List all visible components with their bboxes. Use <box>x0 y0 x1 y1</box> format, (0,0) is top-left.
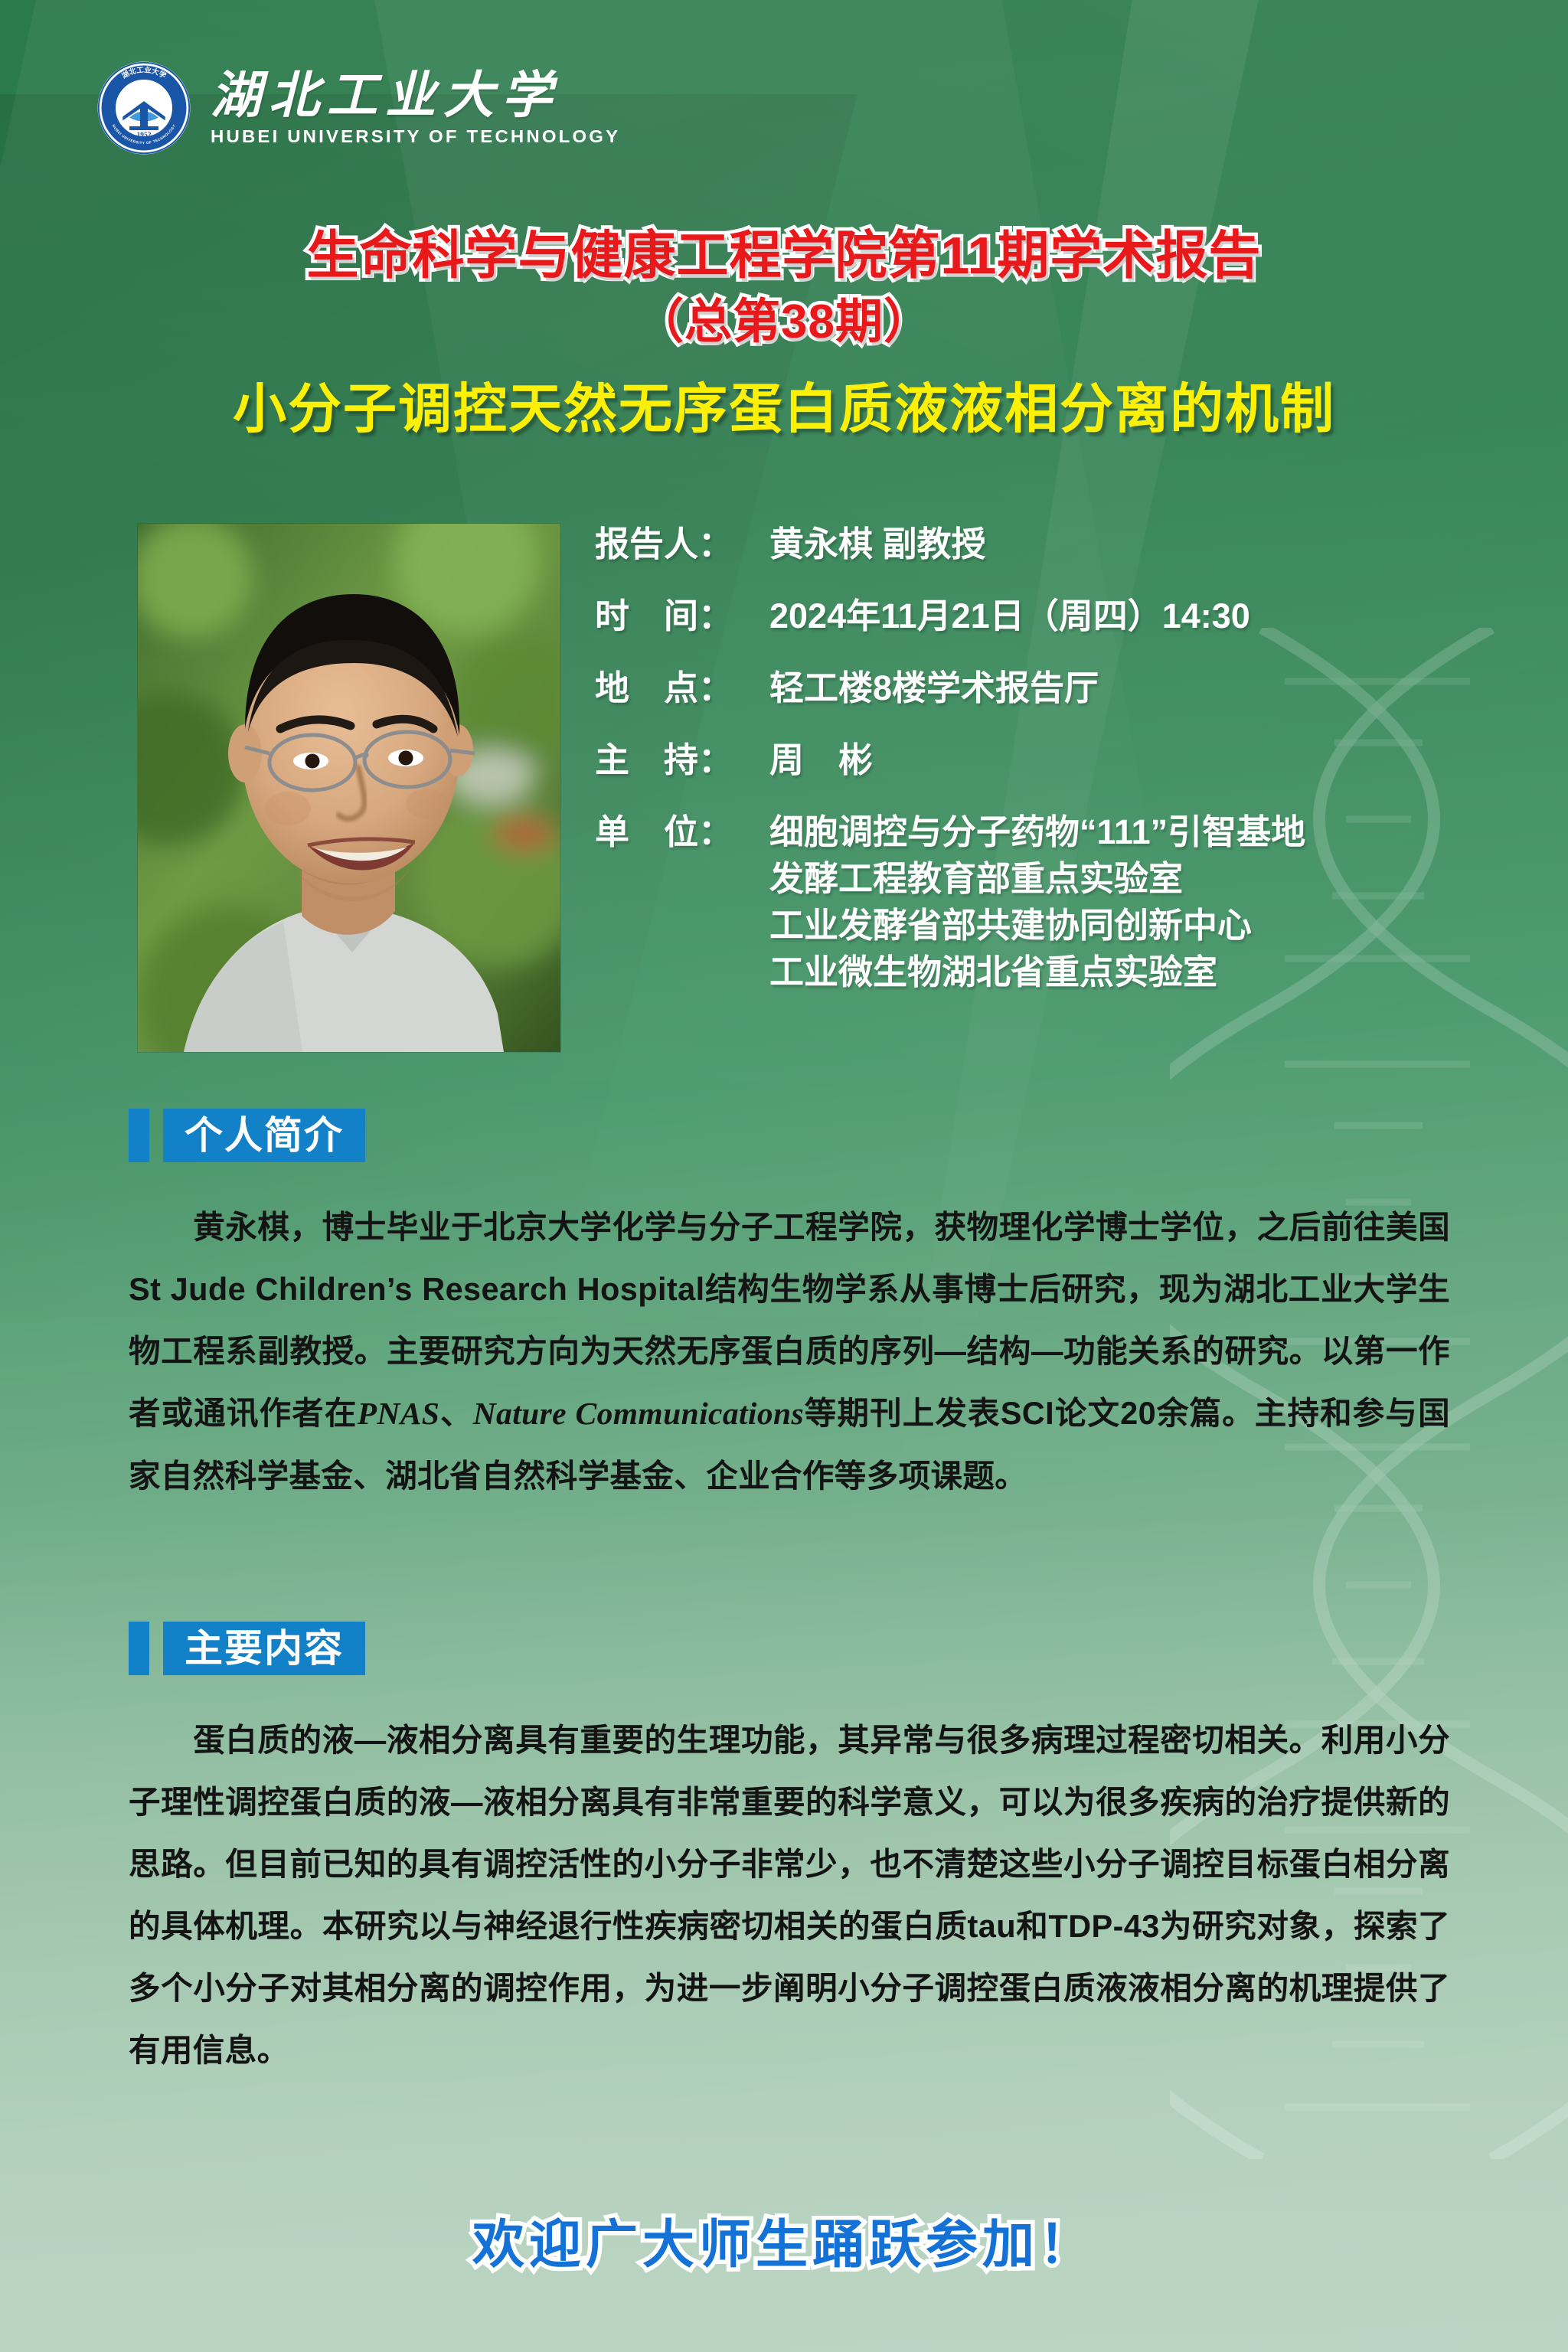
university-branding: 1952 湖北工业大学 HUBEI UNIVERSITY OF TECHNOLO… <box>96 60 612 156</box>
content-text: 蛋白质的液—液相分离具有重要的生理功能，其异常与很多病理过程密切相关。利用小分子… <box>129 1722 1450 2068</box>
wordmark: 湖北工业大学 HUBEI UNIVERSITY OF TECHNOLOGY <box>211 69 612 147</box>
series-title-line1: 生命科学与健康工程学院第11期学术报告 <box>0 222 1568 291</box>
university-name-cn: 湖北工业大学 <box>211 69 612 123</box>
section-header-bio: 个人简介 <box>129 1109 365 1162</box>
affiliation-item: 细胞调控与分子药物“111”引智基地 <box>769 815 1305 849</box>
talk-subject-title: 小分子调控天然无序蛋白质液液相分离的机制 <box>0 366 1568 443</box>
bio-paragraph: 黄永棋，博士毕业于北京大学化学与分子工程学院，获物理化学博士学位，之后前往美国S… <box>129 1196 1450 1507</box>
seminar-poster: 1952 湖北工业大学 HUBEI UNIVERSITY OF TECHNOLO… <box>0 0 1568 2352</box>
detail-place-label: 地 点： <box>595 671 769 705</box>
detail-speaker-value: 黄永棋 副教授 <box>769 527 1507 561</box>
bio-text-separator: 、 <box>439 1395 472 1431</box>
detail-speaker-label: 报告人： <box>595 527 769 561</box>
talk-details: 报告人： 黄永棋 副教授 时 间： 2024年11月21日（周四）14:30 地… <box>595 524 1507 989</box>
detail-speaker: 报告人： 黄永棋 副教授 <box>595 527 1507 561</box>
detail-place: 地 点： 轻工楼8楼学术报告厅 <box>595 671 1507 705</box>
university-name-en: HUBEI UNIVERSITY OF TECHNOLOGY <box>211 126 620 147</box>
welcome-banner: 欢迎广大师生踊跃参加！ <box>0 2202 1568 2278</box>
section-content-label: 主要内容 <box>163 1622 365 1675</box>
journal-name-nature-communications: Nature Communications <box>473 1396 804 1431</box>
detail-time-value: 2024年11月21日（周四）14:30 <box>769 599 1507 633</box>
journal-name-pnas: PNAS <box>358 1396 440 1431</box>
section-header-content: 主要内容 <box>129 1622 365 1675</box>
detail-affiliation-values: 细胞调控与分子药物“111”引智基地 发酵工程教育部重点实验室 工业发酵省部共建… <box>769 815 1305 989</box>
speaker-info-row: 报告人： 黄永棋 副教授 时 间： 2024年11月21日（周四）14:30 地… <box>138 524 1507 1052</box>
svg-text:1952: 1952 <box>137 132 152 139</box>
section-accent-bar <box>129 1109 149 1162</box>
detail-host: 主 持： 周 彬 <box>595 743 1507 777</box>
detail-time: 时 间： 2024年11月21日（周四）14:30 <box>595 599 1507 633</box>
affiliation-item: 工业微生物湖北省重点实验室 <box>769 955 1305 989</box>
detail-affiliation-label: 单 位： <box>595 815 769 849</box>
university-seal-icon: 1952 湖北工业大学 HUBEI UNIVERSITY OF TECHNOLO… <box>96 60 192 156</box>
affiliation-item: 工业发酵省部共建协同创新中心 <box>769 908 1305 942</box>
series-title-line2: （总第38期） <box>0 291 1568 354</box>
detail-host-value: 周 彬 <box>769 743 1507 777</box>
detail-affiliation: 单 位： 细胞调控与分子药物“111”引智基地 发酵工程教育部重点实验室 工业发… <box>595 815 1507 989</box>
speaker-portrait <box>138 524 560 1052</box>
section-accent-bar <box>129 1622 149 1675</box>
detail-host-label: 主 持： <box>595 743 769 777</box>
affiliation-item: 发酵工程教育部重点实验室 <box>769 861 1305 896</box>
content-paragraph: 蛋白质的液—液相分离具有重要的生理功能，其异常与很多病理过程密切相关。利用小分子… <box>129 1709 1450 2081</box>
detail-place-value: 轻工楼8楼学术报告厅 <box>769 671 1507 705</box>
poster-title-block: 生命科学与健康工程学院第11期学术报告 （总第38期） 小分子调控天然无序蛋白质… <box>0 222 1568 443</box>
detail-time-label: 时 间： <box>595 599 769 633</box>
section-bio-label: 个人简介 <box>163 1109 365 1162</box>
